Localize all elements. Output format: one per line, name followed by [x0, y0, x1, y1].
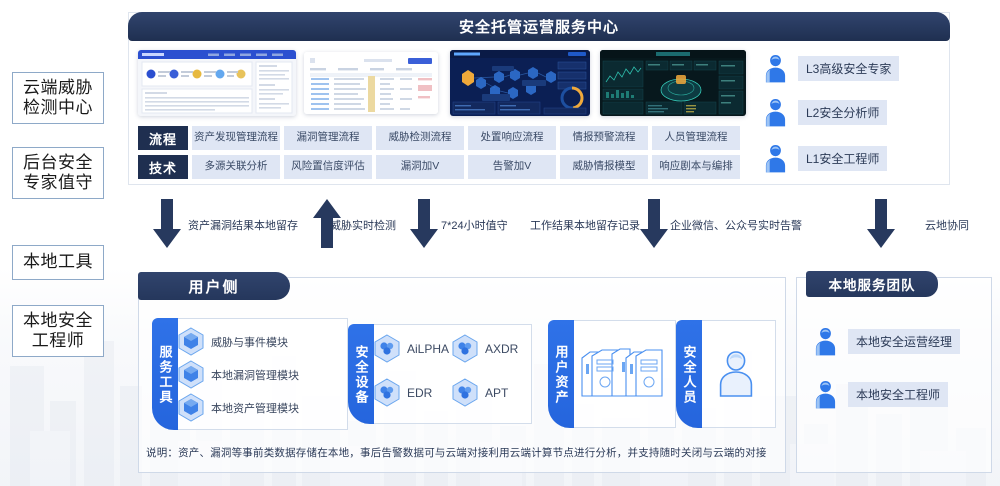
- staff-label: L3高级安全专家: [798, 56, 899, 81]
- team-member-label-text: 本地安全工程师: [856, 386, 940, 403]
- cube-icon: [452, 334, 478, 363]
- footnote-text: 说明：资产、漏洞等事前类数据存储在本地，事后告警数据可与云端对接利用云端计算节点…: [146, 445, 767, 460]
- staff-row-l1[interactable]: L1安全工程师: [762, 142, 887, 175]
- staff-label: L1安全工程师: [798, 146, 887, 171]
- cloud-title-text: 安全托管运营服务中心: [459, 16, 619, 37]
- cell-label: 响应剧本与编排: [659, 161, 733, 173]
- group-tab-service-tools[interactable]: 服务工具: [152, 318, 178, 430]
- flow-note-7x24-duty: 7*24小时值守: [441, 217, 508, 233]
- arrow-down-cloud-ground-collaboration: [866, 199, 896, 249]
- matrix-tag-label: 技术: [149, 158, 177, 177]
- device-label: AiLPHA: [407, 342, 449, 356]
- local-service-team-title: 本地服务团队: [806, 271, 938, 297]
- module-label: 威胁与事件模块: [211, 334, 288, 350]
- cube-icon: [374, 334, 400, 363]
- device-row-ailpha[interactable]: AiLPHA: [374, 334, 449, 363]
- cell-label: 情报预警流程: [573, 132, 636, 144]
- flow-note-cloud-ground-collaboration: 云地协同: [925, 217, 969, 233]
- flow-note-text: 7*24小时值守: [441, 220, 508, 232]
- rail-label: 本地安全 工程师: [23, 311, 93, 351]
- flow-note-text: 资产漏洞结果本地留存: [188, 220, 298, 232]
- person-icon: [812, 325, 839, 358]
- technology-cell-5[interactable]: 响应剧本与编排: [652, 155, 740, 179]
- group-tab-security-devices[interactable]: 安全设备: [348, 324, 374, 424]
- staff-row-l2[interactable]: L2安全分析师: [762, 96, 887, 129]
- technology-cell-1[interactable]: 风险置信度评估: [284, 155, 372, 179]
- team-title-text: 本地服务团队: [829, 274, 916, 294]
- process-cell-3[interactable]: 处置响应流程: [468, 126, 556, 150]
- process-cell-1[interactable]: 漏洞管理流程: [284, 126, 372, 150]
- person-icon: [762, 96, 789, 129]
- process-cell-4[interactable]: 情报预警流程: [560, 126, 648, 150]
- arrow-down-7x24-duty: [409, 199, 439, 249]
- group-tab-label: 用户资产: [552, 345, 571, 405]
- matrix-tag-label: 流程: [149, 129, 177, 148]
- flow-note-text: 云地协同: [925, 220, 969, 232]
- flow-note-text: 工作结果本地留存记录: [530, 220, 640, 232]
- diagram-root: 云端威胁 检测中心 后台安全 专家值守 本地工具 本地安全 工程师 安全托管运营…: [0, 0, 1000, 486]
- staff-label-text: L2安全分析师: [806, 104, 879, 121]
- staff-label: L2安全分析师: [798, 100, 887, 125]
- thumbnail-security-operations-dashboard[interactable]: [600, 50, 746, 116]
- cloud-service-center-title: 安全托管运营服务中心: [128, 12, 950, 41]
- rail-item-local-security-engineer[interactable]: 本地安全 工程师: [12, 305, 104, 357]
- cell-label: 漏洞加V: [401, 161, 440, 173]
- thumbnail-asset-management-console[interactable]: [138, 50, 296, 116]
- arrow-down-asset-vuln: [152, 199, 182, 249]
- cube-icon: [178, 393, 204, 422]
- team-member-label-text: 本地安全运营经理: [856, 333, 952, 350]
- team-member-local-security-engineer[interactable]: 本地安全工程师: [812, 378, 948, 411]
- process-cell-0[interactable]: 资产发现管理流程: [192, 126, 280, 150]
- group-tab-user-assets[interactable]: 用户资产: [548, 320, 574, 428]
- flow-note-text: 企业微信、公众号实时告警: [670, 220, 802, 232]
- module-row-local-asset-management[interactable]: 本地资产管理模块: [178, 393, 299, 422]
- cell-label: 处置响应流程: [481, 132, 544, 144]
- cell-label: 资产发现管理流程: [194, 132, 278, 144]
- flow-note-realtime-threat-detection: 威胁实时检测: [330, 217, 396, 233]
- flow-note-work-result-local-record: 工作结果本地留存记录: [530, 217, 640, 233]
- server-rack-icon: [578, 344, 668, 404]
- device-row-edr[interactable]: EDR: [374, 378, 432, 407]
- technology-cell-4[interactable]: 威胁情报模型: [560, 155, 648, 179]
- person-outline-icon: [714, 348, 758, 400]
- rail-item-backend-security-expert-duty[interactable]: 后台安全 专家值守: [12, 147, 104, 199]
- technology-cell-2[interactable]: 漏洞加V: [376, 155, 464, 179]
- user-side-title: 用户侧: [138, 272, 290, 300]
- cube-icon: [178, 360, 204, 389]
- device-row-axdr[interactable]: AXDR: [452, 334, 518, 363]
- group-tab-label: 安全设备: [352, 345, 371, 405]
- module-label: 本地漏洞管理模块: [211, 367, 299, 383]
- device-label: APT: [485, 386, 508, 400]
- user-panel-footnote: 说明：资产、漏洞等事前类数据存储在本地，事后告警数据可与云端对接利用云端计算节点…: [146, 440, 778, 464]
- rail-item-local-tools[interactable]: 本地工具: [12, 245, 104, 280]
- group-tab-label: 服务工具: [156, 345, 175, 405]
- process-cell-2[interactable]: 威胁检测流程: [376, 126, 464, 150]
- rail-label: 云端威胁 检测中心: [23, 78, 93, 118]
- module-row-threat-event[interactable]: 威胁与事件模块: [178, 327, 288, 356]
- cell-label: 多源关联分析: [205, 161, 268, 173]
- local-service-team-panel: [796, 277, 992, 473]
- device-label: AXDR: [485, 342, 518, 356]
- technology-cell-0[interactable]: 多源关联分析: [192, 155, 280, 179]
- user-side-title-text: 用户侧: [188, 276, 239, 297]
- thumbnail-threat-situation-dashboard[interactable]: [450, 50, 590, 116]
- group-tab-label: 安全人员: [680, 345, 699, 405]
- cube-icon: [452, 378, 478, 407]
- flow-note-wecom-official-account-alerts: 企业微信、公众号实时告警: [670, 217, 802, 233]
- cell-label: 威胁检测流程: [389, 132, 452, 144]
- process-cell-5[interactable]: 人员管理流程: [652, 126, 740, 150]
- staff-row-l3[interactable]: L3高级安全专家: [762, 52, 899, 85]
- technology-cell-3[interactable]: 告警加V: [468, 155, 556, 179]
- team-member-label: 本地安全工程师: [848, 382, 948, 407]
- cell-label: 威胁情报模型: [573, 161, 636, 173]
- thumbnail-vulnerability-list-console[interactable]: [304, 52, 438, 114]
- rail-label: 本地工具: [23, 252, 93, 272]
- module-label: 本地资产管理模块: [211, 400, 299, 416]
- person-icon: [762, 142, 789, 175]
- staff-label-text: L1安全工程师: [806, 150, 879, 167]
- module-row-local-vuln-management[interactable]: 本地漏洞管理模块: [178, 360, 299, 389]
- matrix-tag-technology: 技术: [138, 155, 188, 179]
- team-member-local-security-operations-manager[interactable]: 本地安全运营经理: [812, 325, 960, 358]
- device-row-apt[interactable]: APT: [452, 378, 508, 407]
- flow-note-asset-vuln-local-retention: 资产漏洞结果本地留存: [188, 217, 298, 233]
- rail-item-cloud-threat-detection-center[interactable]: 云端威胁 检测中心: [12, 72, 104, 124]
- cell-label: 漏洞管理流程: [297, 132, 360, 144]
- staff-label-text: L3高级安全专家: [806, 60, 891, 77]
- person-icon: [762, 52, 789, 85]
- group-tab-security-personnel[interactable]: 安全人员: [676, 320, 702, 428]
- matrix-tag-process: 流程: [138, 126, 188, 150]
- device-label: EDR: [407, 386, 432, 400]
- cell-label: 告警加V: [493, 161, 532, 173]
- arrow-down-wecom-alerts: [639, 199, 669, 249]
- rail-label: 后台安全 专家值守: [23, 153, 93, 193]
- person-icon: [812, 378, 839, 411]
- cube-icon: [374, 378, 400, 407]
- flow-note-text: 威胁实时检测: [330, 220, 396, 232]
- cube-icon: [178, 327, 204, 356]
- cell-label: 风险置信度评估: [291, 161, 365, 173]
- team-member-label: 本地安全运营经理: [848, 329, 960, 354]
- cell-label: 人员管理流程: [665, 132, 728, 144]
